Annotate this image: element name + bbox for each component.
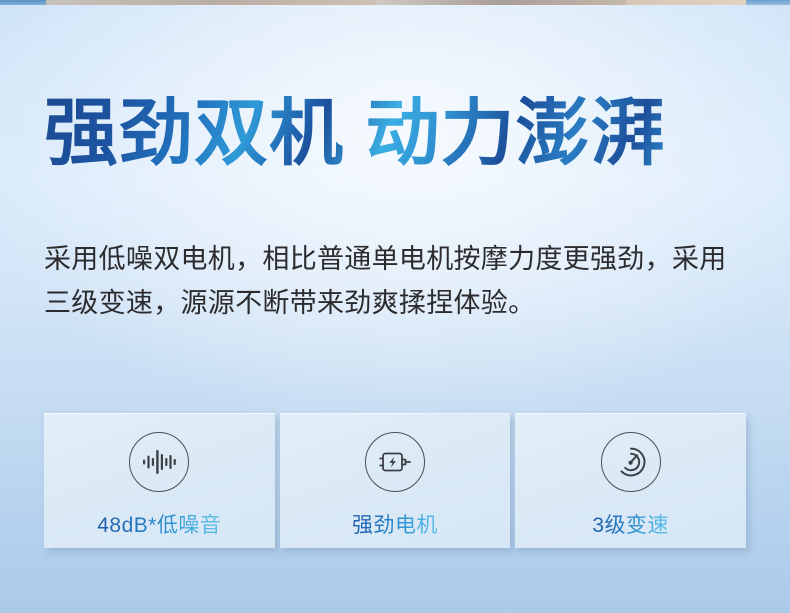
feature-card-three-speeds[interactable]: 3级变速	[515, 413, 746, 548]
feature-card-label: 3级变速	[592, 509, 669, 539]
feature-card-list: 48dB*低噪音 强劲电机	[44, 413, 746, 548]
sliver-segment-tan-right	[626, 0, 746, 5]
product-feature-banner: 强劲双机 动力澎湃 采用低噪双电机，相比普通单电机按摩力度更强劲，采用三级变速，…	[0, 0, 790, 613]
motor-bolt-icon	[365, 432, 425, 492]
sliver-segment-grey	[376, 0, 626, 5]
feature-card-label: 48dB*低噪音	[97, 509, 221, 539]
sliver-segment-blue-right	[746, 0, 790, 5]
feature-card-powerful-motor[interactable]: 强劲电机	[280, 413, 511, 548]
description-paragraph: 采用低噪双电机，相比普通单电机按摩力度更强劲，采用三级变速，源源不断带来劲爽揉捏…	[44, 238, 744, 325]
page-title: 强劲双机 动力澎湃	[44, 96, 666, 170]
feature-card-label: 强劲电机	[352, 509, 438, 539]
sliver-segment-tan	[46, 0, 376, 5]
speed-gauge-icon	[601, 432, 661, 492]
sound-wave-icon	[129, 432, 189, 492]
previous-image-sliver	[0, 0, 790, 5]
sliver-segment-blue-left	[0, 0, 46, 5]
feature-card-low-noise[interactable]: 48dB*低噪音	[44, 413, 275, 548]
